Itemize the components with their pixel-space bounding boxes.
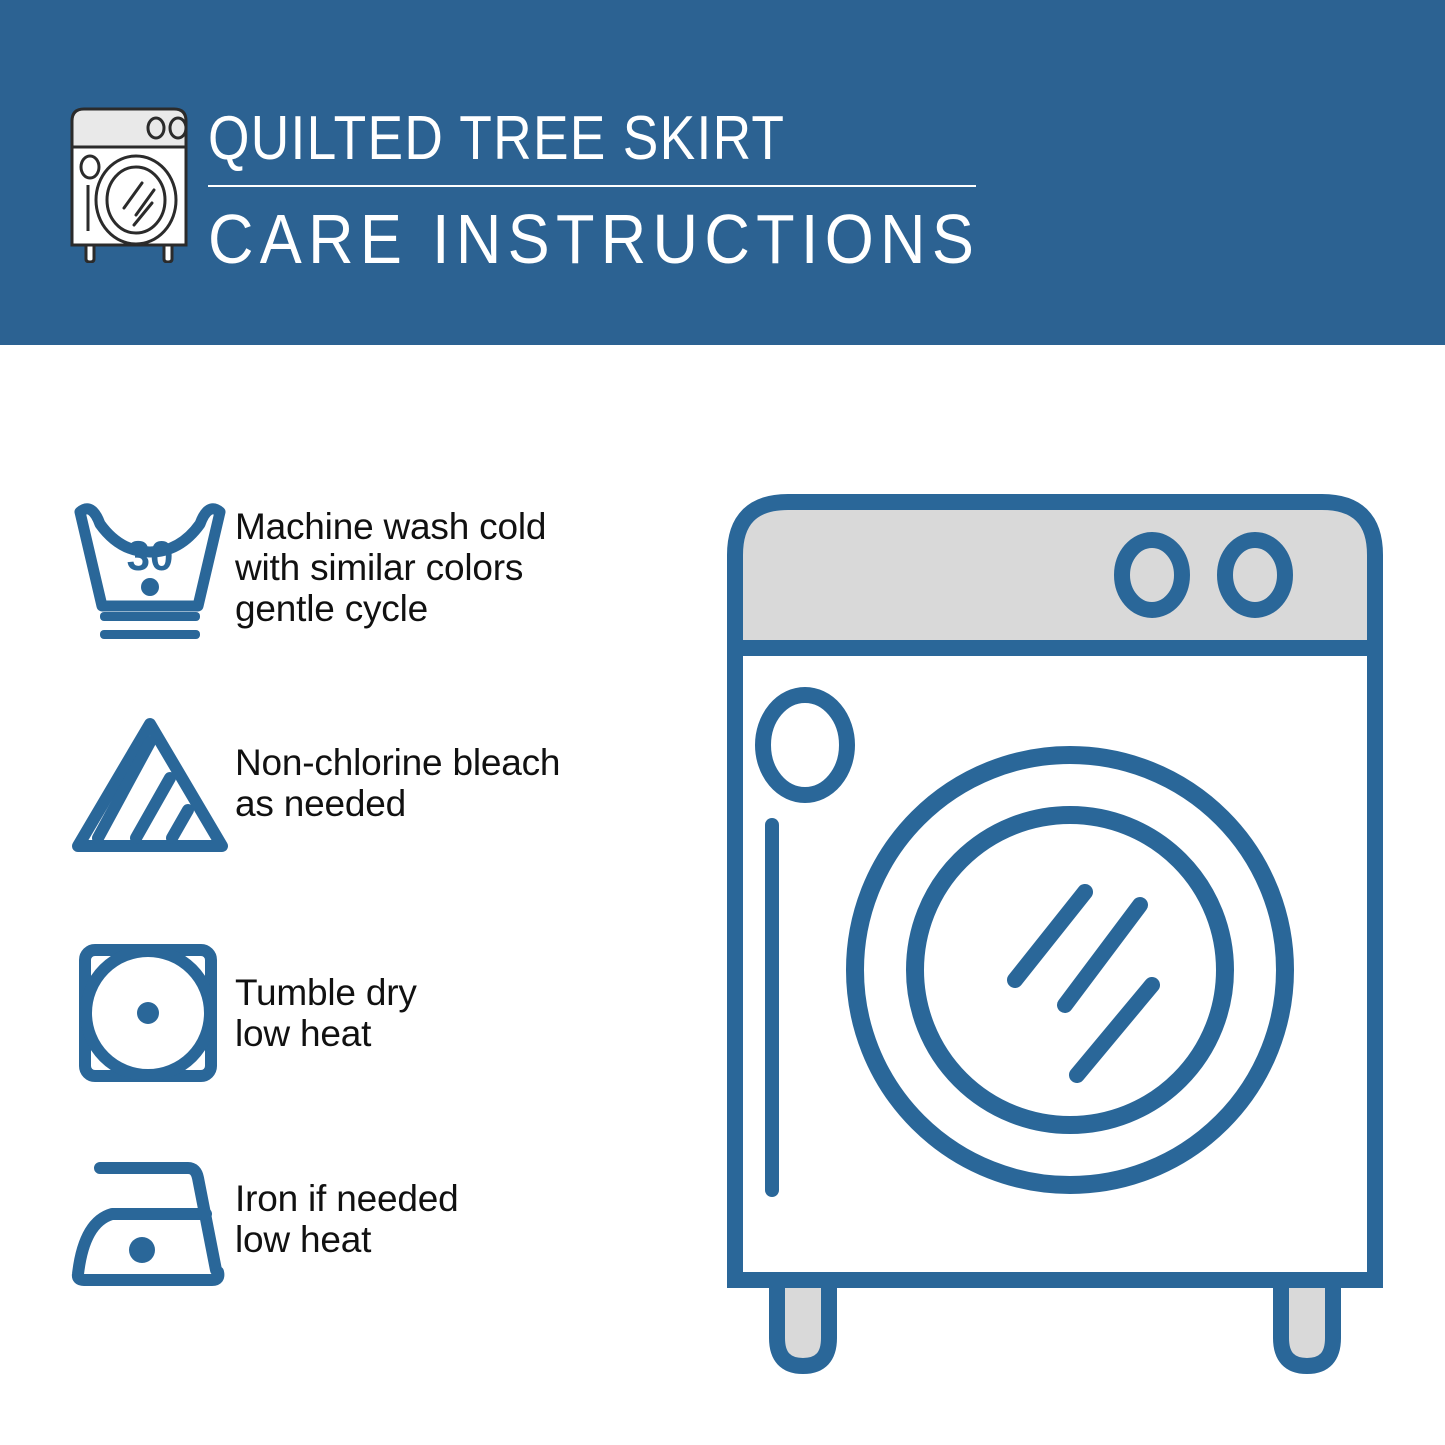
care-row-bleach: Non-chlorine bleach as needed xyxy=(70,712,690,867)
wash-tub-30-icon: 30 xyxy=(70,498,235,648)
washing-machine-logo-icon xyxy=(62,103,190,263)
care-label-tumble-dry: Tumble dry low heat xyxy=(235,940,417,1054)
care-row-tumble-dry: Tumble dry low heat xyxy=(70,940,690,1090)
iron-low-heat-icon xyxy=(70,1152,235,1297)
care-row-machine-wash: 30 Machine wash cold with similar colors… xyxy=(70,498,690,648)
tumble-dry-low-icon xyxy=(70,940,235,1090)
title-divider xyxy=(208,185,976,187)
front-load-washing-machine-illustration xyxy=(715,480,1395,1390)
wash-temperature-label: 30 xyxy=(127,532,174,579)
page-subtitle: CARE INSTRUCTIONS xyxy=(208,201,919,277)
care-row-iron: Iron if needed low heat xyxy=(70,1152,690,1297)
bleach-triangle-icon xyxy=(70,712,235,867)
care-label-iron: Iron if needed low heat xyxy=(235,1152,458,1260)
care-label-machine-wash: Machine wash cold with similar colors ge… xyxy=(235,498,546,629)
page-title: QUILTED TREE SKIRT xyxy=(208,105,887,173)
care-label-bleach: Non-chlorine bleach as needed xyxy=(235,712,560,824)
header-text-block: QUILTED TREE SKIRT CARE INSTRUCTIONS xyxy=(208,105,998,277)
header-band: QUILTED TREE SKIRT CARE INSTRUCTIONS xyxy=(0,0,1445,345)
care-instructions-page: QUILTED TREE SKIRT CARE INSTRUCTIONS 30 … xyxy=(0,0,1445,1445)
